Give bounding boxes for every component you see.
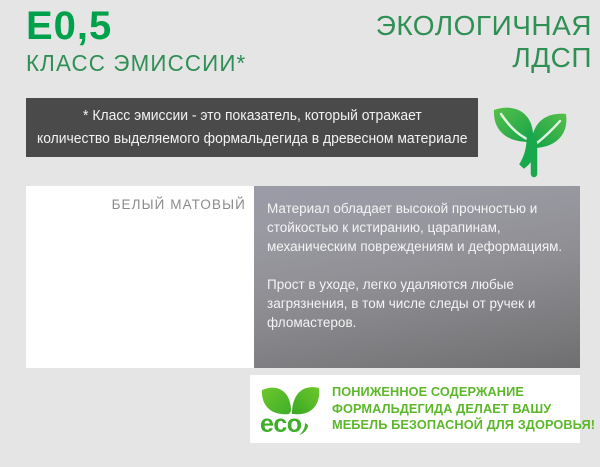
swatch-label: БЕЛЫЙ МАТОВЫЙ <box>112 197 246 212</box>
eco-badge-line-2: ФОРМАЛЬДЕГИДА ДЕЛАЕТ ВАШУ <box>332 401 595 418</box>
footnote-line-2: количество выделяемого формальдегида в д… <box>37 128 468 151</box>
eco-title-block: ЭКОЛОГИЧНАЯ ЛДСП <box>342 10 592 74</box>
sprout-leaf-icon <box>484 90 576 178</box>
eco-badge-line-1: ПОНИЖЕННОЕ СОДЕРЖАНИЕ <box>332 384 595 401</box>
footnote-banner: * Класс эмиссии - это показатель, которы… <box>26 98 478 157</box>
eco-badge-text: ПОНИЖЕННОЕ СОДЕРЖАНИЕ ФОРМАЛЬДЕГИДА ДЕЛА… <box>332 384 600 434</box>
description-panel: Материал обладает высокой прочностью и с… <box>254 186 580 368</box>
emission-class-label: КЛАСС ЭМИССИИ* <box>26 50 346 77</box>
eco-leaves-icon: eco <box>258 380 324 438</box>
eco-badge: eco ПОНИЖЕННОЕ СОДЕРЖАНИЕ ФОРМАЛЬДЕГИДА … <box>250 375 580 443</box>
footnote-line-1: * Класс эмиссии - это показатель, которы… <box>83 105 422 128</box>
eco-title-line-1: ЭКОЛОГИЧНАЯ <box>342 10 592 42</box>
emission-class-value: E0,5 <box>26 4 356 48</box>
promo-banner: E0,5 КЛАСС ЭМИССИИ* ЭКОЛОГИЧНАЯ ЛДСП * К… <box>0 0 600 467</box>
description-paragraph-2: Прост в уходе, легко удаляются любые заг… <box>267 275 570 332</box>
product-swatch-panel: БЕЛЫЙ МАТОВЫЙ <box>26 186 254 368</box>
description-paragraph-1: Материал обладает высокой прочностью и с… <box>267 199 570 256</box>
eco-badge-line-3: МЕБЕЛЬ БЕЗОПАСНОЙ ДЛЯ ЗДОРОВЬЯ! <box>332 417 595 434</box>
emission-class-block: E0,5 КЛАСС ЭМИССИИ* <box>26 4 356 77</box>
eco-title-line-2: ЛДСП <box>342 42 592 74</box>
eco-wordmark: eco <box>260 412 302 437</box>
